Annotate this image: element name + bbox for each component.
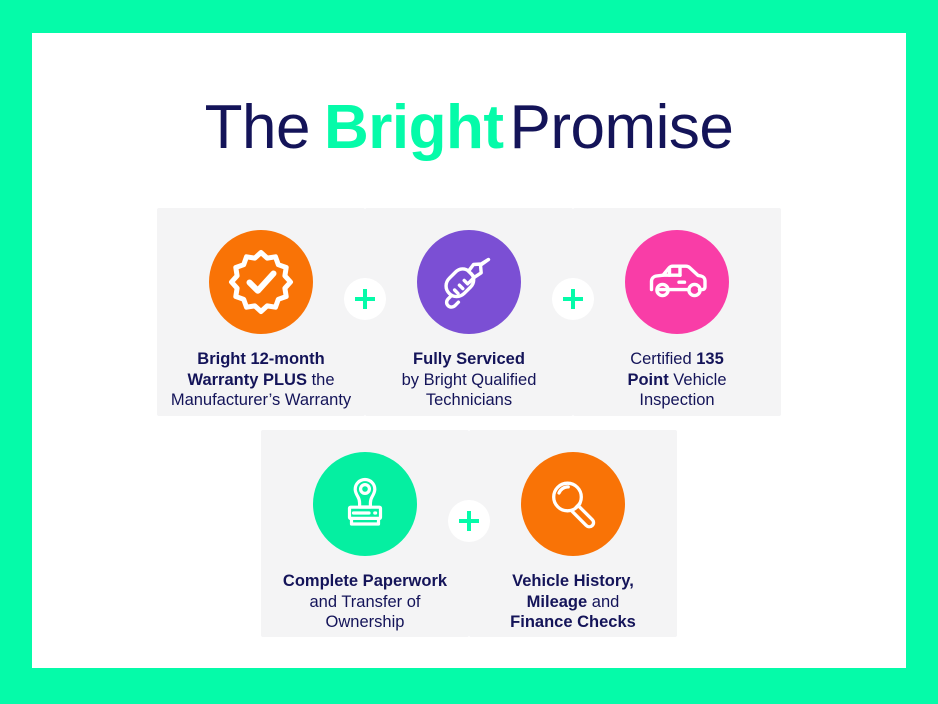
promise-card-history-checks[interactable]: Vehicle History, Mileage and Finance Che…: [469, 430, 677, 637]
promise-card-history-checks-caption: Vehicle History, Mileage and Finance Che…: [504, 571, 642, 633]
promise-card-inspection[interactable]: Certified 135 Point Vehicle Inspection: [573, 208, 781, 416]
plus-icon: [552, 278, 594, 320]
caption-bold-line2: Point: [627, 371, 668, 389]
caption-regular-line2: Vehicle: [669, 371, 727, 389]
caption-regular-line3: Manufacturer’s Warranty: [171, 391, 351, 409]
plus-icon: [448, 500, 490, 542]
promise-card-grid: Bright 12-month Warranty PLUS the Manufa…: [32, 208, 906, 637]
promise-card-paperwork-caption: Complete Paperwork and Transfer of Owner…: [277, 571, 453, 633]
caption-bold-line2: Warranty PLUS: [187, 371, 307, 389]
title-word-the: The: [205, 93, 310, 162]
caption-bold-line1: Bright 12-month: [197, 350, 324, 368]
badge-check-icon: [209, 230, 313, 334]
caption-bold-line1: Fully Serviced: [413, 350, 525, 368]
card-row-top: Bright 12-month Warranty PLUS the Manufa…: [32, 208, 906, 416]
stamp-icon: [313, 452, 417, 556]
caption-regular-line1: Certified: [630, 350, 696, 368]
title-word-bright: Bright: [324, 93, 504, 162]
title-word-promise: Promise: [509, 93, 733, 162]
car-icon: [625, 230, 729, 334]
caption-bold-line3: Finance Checks: [510, 613, 636, 631]
caption-bold-line1: Vehicle History,: [512, 572, 634, 590]
magnifier-icon: [521, 452, 625, 556]
caption-regular-line2: the: [307, 371, 335, 389]
caption-regular-line2: and: [587, 593, 619, 611]
caption-bold-line2: Mileage: [527, 593, 588, 611]
page-title: TheBrightPromise: [32, 97, 906, 159]
mint-frame: TheBrightPromise Bright 12-month Warrant…: [0, 0, 938, 704]
caption-regular-line3: Ownership: [326, 613, 405, 631]
promise-card-serviced[interactable]: Fully Serviced by Bright Qualified Techn…: [365, 208, 573, 416]
caption-bold-line1: 135: [696, 350, 724, 368]
promise-card-serviced-caption: Fully Serviced by Bright Qualified Techn…: [396, 349, 543, 411]
plus-icon: [344, 278, 386, 320]
promise-card-warranty-caption: Bright 12-month Warranty PLUS the Manufa…: [165, 349, 357, 411]
promise-card-paperwork[interactable]: Complete Paperwork and Transfer of Owner…: [261, 430, 469, 637]
content-panel: TheBrightPromise Bright 12-month Warrant…: [32, 33, 906, 668]
caption-regular-line3: Technicians: [426, 391, 512, 409]
caption-regular-line3: Inspection: [639, 391, 714, 409]
caption-regular-line2: by Bright Qualified: [402, 371, 537, 389]
caption-bold-line1: Complete Paperwork: [283, 572, 447, 590]
hand-wrench-icon: [417, 230, 521, 334]
promise-card-warranty[interactable]: Bright 12-month Warranty PLUS the Manufa…: [157, 208, 365, 416]
promise-card-inspection-caption: Certified 135 Point Vehicle Inspection: [621, 349, 732, 411]
card-row-bottom: Complete Paperwork and Transfer of Owner…: [32, 430, 906, 637]
caption-regular-line2: and Transfer of: [310, 593, 421, 611]
